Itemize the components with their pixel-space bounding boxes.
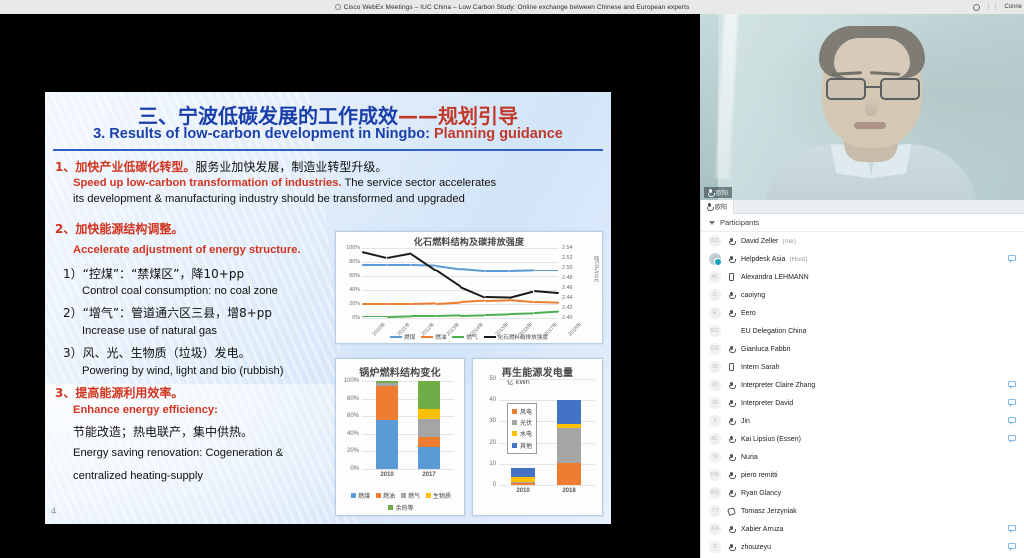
avatar: Z: [709, 541, 721, 553]
y-tick-label: 100%: [340, 245, 360, 251]
slide-title-english-tail: Planning guidance: [434, 126, 563, 142]
legend-label: 燃油: [383, 491, 395, 500]
mobile-device-icon: [721, 273, 741, 281]
gridline: [499, 379, 595, 380]
body-line-12-red: 提高能源利用效率。: [75, 386, 183, 400]
avatar: AL: [709, 271, 721, 283]
participant-name: zhouzeyu: [741, 544, 771, 551]
microphone-icon: [721, 454, 741, 461]
body-line-15: Energy saving renovation: Cogeneration &: [73, 447, 283, 459]
panel-tab-bar: 欧阳: [701, 200, 1024, 214]
body-line-4: 2、加快能源结构调整。: [55, 220, 183, 237]
video-name-badge: 欧阳: [704, 187, 732, 198]
line-segment: [386, 253, 411, 260]
participant-name: Kai Lipsius (Essen): [741, 436, 801, 443]
body-line-4-red: 加快能源结构调整。: [75, 222, 183, 236]
legend-swatch: [421, 336, 433, 338]
y2-tick-label: 2.44: [562, 295, 573, 301]
participant-row[interactable]: TJTomasz Jerzyniak: [701, 502, 1024, 520]
gridline: [362, 469, 454, 470]
legend-label: 风电: [520, 407, 532, 416]
line-segment: [411, 315, 436, 317]
participant-name: Helpdesk Asia: [741, 256, 785, 263]
video-haze-overlay: [700, 14, 1024, 200]
legend-swatch: [351, 493, 356, 498]
body-line-1-number: 1、: [55, 160, 75, 174]
microphone-icon: [721, 292, 741, 299]
participant-name: Eero: [741, 310, 756, 317]
legend-label: 水电: [520, 429, 532, 438]
microphone-icon: [721, 346, 741, 353]
y2-tick-label: 2.50: [562, 265, 573, 271]
participant-name: Tomasz Jerzyniak: [741, 508, 797, 515]
participant-name: piero remitti: [741, 472, 778, 479]
participant-row[interactable]: NNuria: [701, 448, 1024, 466]
microphone-icon: [721, 418, 741, 425]
bar-segment: [418, 381, 440, 409]
legend-swatch: [512, 420, 517, 425]
legend-label: 燃气: [408, 491, 420, 500]
legend-label: 燃煤: [358, 491, 370, 500]
body-line-11: Powering by wind, light and bio (rubbish…: [82, 365, 283, 377]
participants-panel: 欧阳 Participants DZDavid Zeller(me)Helpde…: [700, 200, 1024, 558]
legend-label: 燃煤: [404, 333, 415, 341]
participant-row[interactable]: ISIntern Sarah: [701, 358, 1024, 376]
legend-swatch: [390, 336, 402, 338]
slide-title-chinese: 三、宁波低碳发展的工作成效——规划引导: [45, 100, 611, 129]
shared-slide: 三、宁波低碳发展的工作成效——规划引导 3. Results of low-ca…: [45, 92, 611, 524]
participant-name: EU Delegation China: [741, 328, 806, 335]
body-line-12-number: 3、: [55, 386, 75, 400]
bar-segment: [418, 409, 440, 419]
microphone-icon: [721, 382, 741, 389]
participant-name: Interpreter Claire Zhang: [741, 382, 815, 389]
y2-tick-label: 2.42: [562, 305, 573, 311]
legend-item: 燃气: [452, 333, 477, 341]
legend-label: 光伏: [520, 418, 532, 427]
participant-name: Interpreter David: [741, 400, 793, 407]
bar-segment: [376, 386, 398, 419]
participants-list[interactable]: DZDavid Zeller(me)Helpdesk Asia(Host)ALA…: [701, 232, 1024, 556]
avatar: RG: [709, 487, 721, 499]
body-line-13-red: Enhance energy efficiency:: [73, 404, 218, 416]
line-segment: [509, 290, 534, 299]
active-speaker-video[interactable]: 欧阳: [700, 14, 1024, 200]
line-segment: [362, 316, 387, 318]
bar-segment: [511, 477, 535, 483]
line-segment: [460, 300, 485, 303]
title-divider: [53, 149, 603, 151]
y-tick-label: 20%: [340, 301, 360, 307]
microphone-icon: [721, 238, 741, 245]
y2-tick-label: 2.52: [562, 255, 573, 261]
participant-row[interactable]: EEero: [701, 304, 1024, 322]
chat-bubble-icon[interactable]: [1008, 525, 1016, 531]
x-tick-label: 2010: [370, 472, 404, 478]
presentation-stage: 三、宁波低碳发展的工作成效——规划引导 3. Results of low-ca…: [0, 14, 700, 558]
bar-segment: [511, 483, 535, 485]
participant-name: Ryan Glancy: [741, 490, 781, 497]
legend-label: 其他: [520, 441, 532, 450]
y-tick-label: 0: [474, 482, 496, 488]
bar-segment: [376, 383, 398, 387]
chart-boiler-legend: 燃煤燃油燃气生物质余热等: [340, 491, 462, 512]
slide-title-english: 3. Results of low-carbon development in …: [45, 126, 611, 142]
microphone-icon: [721, 526, 741, 533]
y2-tick-label: 2.40: [562, 315, 573, 321]
participant-row[interactable]: IZInterpreter Claire Zhang: [701, 376, 1024, 394]
mobile-device-icon: [721, 363, 741, 371]
bar-segment: [557, 428, 581, 463]
legend-swatch: [512, 443, 517, 448]
line-segment: [435, 265, 460, 270]
legend-swatch: [484, 336, 496, 338]
chart-fossil-plot: [362, 248, 558, 318]
window-title-group: Cisco WebEx Meetings – IUC China – Low C…: [335, 4, 690, 11]
legend-item: 燃煤: [390, 333, 415, 341]
legend-swatch: [426, 493, 431, 498]
y-tick-label: 80%: [340, 259, 360, 265]
line-segment: [435, 314, 460, 316]
bar-segment: [511, 468, 535, 476]
legend-label: 燃油: [435, 333, 446, 341]
body-line-14: 节能改造；热电联产，集中供热。: [73, 423, 253, 440]
window-titlebar: Cisco WebEx Meetings – IUC China – Low C…: [0, 0, 1024, 14]
line-segment: [387, 303, 412, 305]
y-tick-label: 40%: [340, 287, 360, 293]
body-line-6: 1）“控煤”：“禁煤区”，降10+pp: [63, 265, 244, 282]
chart-renewable-legend: 风电光伏水电其他: [507, 403, 537, 454]
line-segment: [485, 270, 510, 272]
participant-name: Gianluca Fabbri: [741, 346, 790, 353]
microphone-icon: [708, 189, 713, 196]
participant-name: Jin: [741, 418, 750, 425]
microphone-icon: [721, 490, 741, 497]
legend-item: 生物质: [426, 491, 451, 500]
legend-item: 风电: [512, 407, 532, 416]
participant-role-tag: (Host): [789, 256, 807, 263]
line-segment: [460, 314, 485, 316]
gear-icon[interactable]: [973, 4, 980, 11]
avatar: GF: [709, 343, 721, 355]
participant-row[interactable]: JJin: [701, 412, 1024, 430]
legend-item: 光伏: [512, 418, 532, 427]
body-line-13: Enhance energy efficiency:: [73, 404, 218, 416]
avatar: ID: [709, 397, 721, 409]
avatar: DZ: [709, 235, 721, 247]
x-tick-label: 2017: [412, 472, 446, 478]
legend-item: 燃油: [376, 491, 395, 500]
x-tick-label: 2010: [505, 488, 541, 494]
y-tick-label: 20%: [337, 448, 359, 454]
participants-section-label: Participants: [720, 218, 759, 227]
microphone-icon: [721, 544, 741, 551]
avatar: C: [709, 289, 721, 301]
legend-item: 化石燃料碳排放强度: [484, 333, 548, 341]
line-segment: [509, 270, 534, 272]
participant-role-tag: (me): [782, 238, 796, 245]
legend-label: 生物质: [433, 491, 451, 500]
chat-bubble-icon[interactable]: [1008, 381, 1016, 387]
y-tick-label: 0%: [337, 466, 359, 472]
chat-bubble-icon[interactable]: [1008, 435, 1016, 441]
line-segment: [460, 268, 485, 272]
line-segment: [509, 299, 534, 303]
y-tick-label: 100%: [337, 378, 359, 384]
gridline: [499, 485, 595, 486]
y-tick-label: 40: [474, 397, 496, 403]
legend-label: 余热等: [395, 503, 413, 512]
chart-fossil-y2-title: 吨CO₂/万元: [593, 256, 600, 282]
avatar: IS: [709, 361, 721, 373]
slide-page-number: 4: [51, 506, 56, 516]
legend-label: 化石燃料碳排放强度: [498, 333, 548, 341]
connection-status-label: Conne: [1004, 4, 1022, 10]
body-line-4-number: 2、: [55, 222, 75, 236]
participant-row[interactable]: ECEU Delegation China: [701, 322, 1024, 340]
bar-segment: [511, 482, 535, 483]
slide-title-chinese-tail: ——规划引导: [398, 104, 518, 128]
bar-segment: [376, 420, 398, 469]
line-segment: [362, 264, 387, 266]
chart-renewable-generation: 再生能源发电量 亿 kWh 01020304050 20102018 风电光伏水…: [472, 358, 603, 516]
legend-item: 其他: [512, 441, 532, 450]
participant-row[interactable]: Zzhouzeyu: [701, 538, 1024, 556]
y-tick-label: 0%: [340, 315, 360, 321]
body-line-9: Increase use of natural gas: [82, 325, 217, 337]
avatar: TJ: [709, 505, 721, 517]
legend-item: 燃气: [401, 491, 420, 500]
avatar: IZ: [709, 379, 721, 391]
avatar: EC: [709, 325, 721, 337]
body-line-2-black: The service sector accelerates: [344, 177, 496, 189]
participant-row[interactable]: RGRyan Glancy: [701, 484, 1024, 502]
chat-bubble-icon[interactable]: [1008, 417, 1016, 423]
participant-row[interactable]: XAXabier Arruza: [701, 520, 1024, 538]
body-line-2: Speed up low-carbon transformation of in…: [73, 177, 496, 189]
y-tick-label: 30: [474, 418, 496, 424]
y-tick-label: 10: [474, 461, 496, 467]
y-tick-label: 80%: [337, 396, 359, 402]
participant-row[interactable]: KLKai Lipsius (Essen): [701, 430, 1024, 448]
participant-name: Xabier Arruza: [741, 526, 783, 533]
chart-fossil-fuel-structure: 化石燃料结构及碳排放强度 0%20%40%60%80%100% 2.402.42…: [335, 231, 603, 344]
participant-row[interactable]: IDInterpreter David: [701, 394, 1024, 412]
slide-title-english-main: 3. Results of low-carbon development in …: [93, 126, 430, 142]
legend-swatch: [452, 336, 464, 338]
body-line-2-red: Speed up low-carbon transformation of in…: [73, 177, 342, 189]
legend-label: 燃气: [466, 333, 477, 341]
menu-icon[interactable]: ⋮⋮: [985, 4, 999, 11]
phone-icon: [721, 508, 741, 515]
legend-swatch: [401, 493, 406, 498]
participant-name: Intern Sarah: [741, 364, 780, 371]
y-tick-label: 50: [474, 376, 496, 382]
webex-meeting-window: Cisco WebEx Meetings – IUC China – Low C…: [0, 0, 1024, 558]
body-line-12: 3、提高能源利用效率。: [55, 384, 183, 401]
line-segment: [534, 270, 559, 272]
body-line-5: Accelerate adjustment of energy structur…: [73, 244, 301, 256]
chat-bubble-icon[interactable]: [1008, 543, 1016, 549]
line-segment: [460, 286, 485, 298]
body-line-3: its development & manufacturing industry…: [73, 193, 465, 205]
legend-swatch: [376, 493, 381, 498]
line-segment: [533, 311, 558, 314]
body-line-7: Control coal consumption: no coal zone: [82, 285, 278, 297]
line-segment: [362, 251, 387, 259]
avatar: PR: [709, 469, 721, 481]
x-tick-label: 2018: [551, 488, 587, 494]
participant-row[interactable]: GFGianluca Fabbri: [701, 340, 1024, 358]
microphone-icon: [721, 310, 741, 317]
y2-tick-label: 2.46: [562, 285, 573, 291]
bar-segment: [418, 437, 440, 447]
y-tick-label: 20: [474, 440, 496, 446]
microphone-icon: [721, 256, 741, 263]
legend-item: 燃煤: [351, 491, 370, 500]
line-segment: [387, 264, 412, 266]
gridline: [362, 248, 558, 249]
microphone-icon: [721, 400, 741, 407]
body-line-1: 1、加快产业低碳化转型。服务业加快发展，制造业转型升级。: [55, 158, 387, 175]
body-line-1-black: 服务业加快发展，制造业转型升级。: [195, 160, 387, 174]
avatar: KL: [709, 433, 721, 445]
chart-boiler-title: 锅炉燃料结构变化: [336, 359, 464, 379]
legend-swatch: [388, 505, 393, 510]
window-title: Cisco WebEx Meetings – IUC China – Low C…: [344, 4, 690, 11]
gridline: [362, 318, 558, 319]
panel-tab-label: 欧阳: [715, 202, 727, 211]
participant-name: caoiyng: [741, 292, 765, 299]
avatar: [709, 253, 721, 265]
y-tick-label: 60%: [337, 413, 359, 419]
avatar: XA: [709, 523, 721, 535]
gridline: [362, 276, 558, 277]
microphone-icon: [721, 472, 741, 479]
gridline: [362, 262, 558, 263]
bar-segment: [557, 424, 581, 428]
body-line-1-red: 加快产业低碳化转型。: [75, 160, 195, 174]
body-line-8: 2）“增气”：管道通六区三县，增8+pp: [63, 304, 272, 321]
participant-row[interactable]: ALAlexandra LEHMANN: [701, 268, 1024, 286]
legend-swatch: [512, 431, 517, 436]
bar-segment: [376, 381, 398, 383]
participant-name: Alexandra LEHMANN: [741, 274, 809, 281]
tab-participants[interactable]: 欧阳: [701, 200, 734, 214]
legend-item: 余热等: [388, 503, 413, 512]
legend-item: 燃油: [421, 333, 446, 341]
line-segment: [484, 313, 509, 315]
y2-tick-label: 2.54: [562, 245, 573, 251]
slide-title-chinese-main: 三、宁波低碳发展的工作成效: [138, 104, 398, 128]
chat-bubble-icon[interactable]: [1008, 399, 1016, 405]
body-line-10: 3）风、光、生物质（垃圾）发电。: [63, 344, 251, 361]
body-line-16: centralized heating-supply: [73, 470, 203, 482]
chevron-down-icon: [709, 221, 715, 225]
bar-segment: [557, 463, 581, 485]
y2-tick-label: 2.48: [562, 275, 573, 281]
y-tick-label: 40%: [337, 431, 359, 437]
participants-section-header[interactable]: Participants: [701, 214, 1024, 232]
bar-segment: [418, 419, 440, 437]
avatar: J: [709, 415, 721, 427]
body-line-5-red: Accelerate adjustment of energy structur…: [73, 244, 301, 256]
chart-fossil-legend: 燃煤燃油燃气化石燃料碳排放强度: [336, 333, 602, 341]
chart-boiler-fuel-structure: 锅炉燃料结构变化 0%20%40%60%80%100% 20102017 燃煤燃…: [335, 358, 465, 516]
chart-boiler-plot: [362, 381, 454, 469]
legend-item: 水电: [512, 429, 532, 438]
microphone-icon: [707, 203, 712, 210]
avatar: E: [709, 307, 721, 319]
participant-row[interactable]: DZDavid Zeller(me): [701, 232, 1024, 250]
microphone-icon: [721, 436, 741, 443]
participant-row[interactable]: Ccaoiyng: [701, 286, 1024, 304]
chat-bubble-icon[interactable]: [1008, 255, 1016, 261]
participant-row[interactable]: Helpdesk Asia(Host): [701, 250, 1024, 268]
line-segment: [509, 312, 534, 314]
titlebar-right-controls: ⋮⋮ Conne: [973, 0, 1022, 14]
legend-swatch: [512, 409, 517, 414]
avatar: N: [709, 451, 721, 463]
participant-name: David Zeller: [741, 238, 778, 245]
line-segment: [435, 269, 461, 287]
line-segment: [484, 296, 509, 299]
bar-segment: [418, 447, 440, 469]
line-segment: [484, 299, 509, 301]
bar-segment: [557, 400, 581, 424]
y-tick-label: 60%: [340, 273, 360, 279]
participant-name: Nuria: [741, 454, 758, 461]
video-name-label: 欧阳: [716, 188, 728, 197]
webex-logo-icon: [335, 4, 341, 10]
line-segment: [362, 303, 387, 305]
participant-row[interactable]: PRpiero remitti: [701, 466, 1024, 484]
